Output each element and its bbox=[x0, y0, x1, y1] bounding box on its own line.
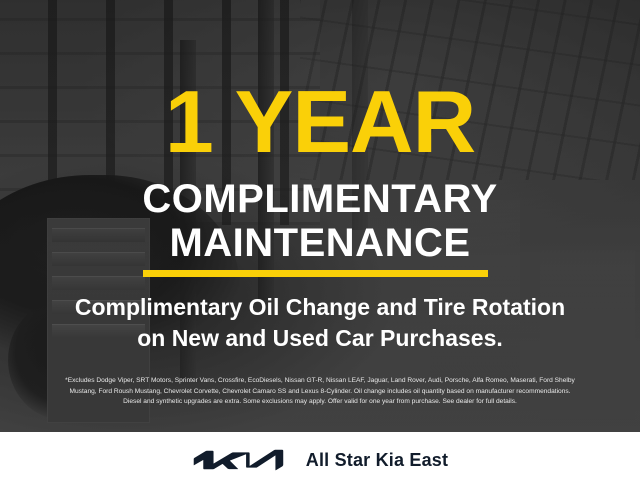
promo-banner-page: 1 YEAR COMPLIMENTARY MAINTENANCE Complim… bbox=[0, 0, 640, 488]
promo-banner: 1 YEAR COMPLIMENTARY MAINTENANCE Complim… bbox=[0, 0, 640, 432]
dealer-name-label: All Star Kia East bbox=[306, 450, 448, 471]
disclaimer-line-1: *Excludes Dodge Viper, SRT Motors, Sprin… bbox=[14, 376, 626, 387]
disclaimer-line-3: Diesel and synthetic upgrades are extra.… bbox=[14, 397, 626, 408]
offer-subheadline-line-1: Complimentary Oil Change and Tire Rotati… bbox=[75, 294, 565, 320]
disclaimer-fine-print: *Excludes Dodge Viper, SRT Motors, Sprin… bbox=[14, 376, 626, 408]
offer-subheadline-line-2: on New and Used Car Purchases. bbox=[0, 323, 640, 354]
yellow-divider-rule bbox=[143, 270, 488, 277]
banner-content: 1 YEAR COMPLIMENTARY MAINTENANCE Complim… bbox=[0, 0, 640, 432]
dealer-footer: All Star Kia East bbox=[0, 432, 640, 488]
disclaimer-line-2: Mustang, Ford Roush Mustang, Chevrolet C… bbox=[14, 387, 626, 398]
headline-maintenance: MAINTENANCE bbox=[0, 222, 640, 264]
kia-logo bbox=[192, 448, 284, 472]
offer-subheadline: Complimentary Oil Change and Tire Rotati… bbox=[0, 292, 640, 354]
headline-complimentary: COMPLIMENTARY bbox=[0, 178, 640, 220]
headline-one-year: 1 YEAR bbox=[0, 78, 640, 166]
